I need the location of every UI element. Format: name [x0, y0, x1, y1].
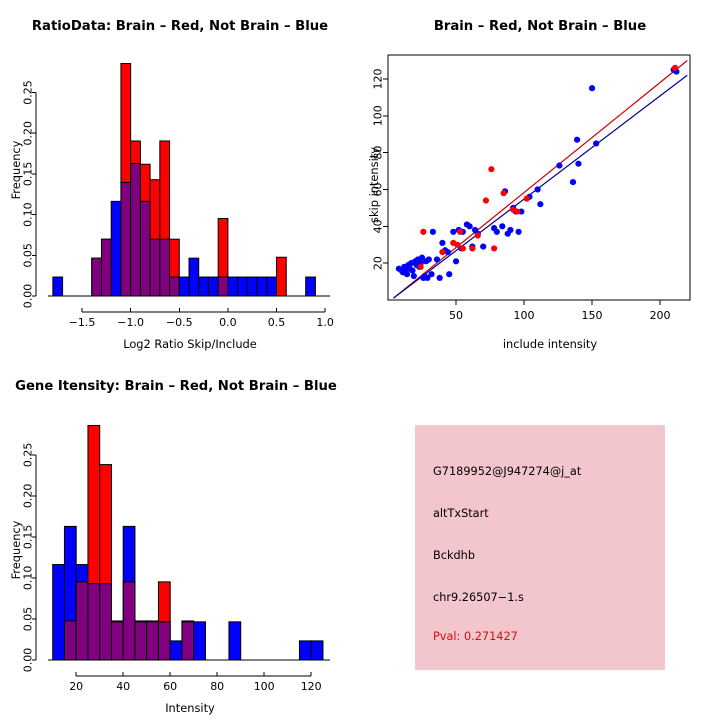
x-tick-label: −0.5	[166, 316, 193, 329]
scatter-point	[501, 190, 507, 196]
scatter-point	[524, 196, 530, 202]
x-tick-label: 0.0	[219, 316, 237, 329]
histogram-bar	[306, 277, 316, 296]
histogram-bar	[199, 277, 209, 296]
ratio-histogram-plot-area: 0.000.050.100.150.200.25−1.5−1.0−0.50.00…	[22, 63, 334, 329]
x-tick-label: 1.0	[316, 316, 334, 329]
histogram-bar-overlap	[182, 622, 194, 660]
histogram-bar	[111, 201, 121, 296]
scatter-point	[469, 245, 475, 251]
histogram-bar-overlap	[140, 201, 150, 296]
histogram-bar-overlap	[111, 622, 123, 660]
y-tick-label: 120	[372, 68, 385, 89]
scatter-point	[507, 227, 513, 233]
x-tick-label: 0.5	[268, 316, 286, 329]
scatter-point	[556, 162, 562, 168]
histogram-bar	[277, 257, 287, 296]
intensity-scatter-title: Brain – Red, Not Brain – Blue	[434, 19, 646, 34]
scatter-point	[446, 271, 452, 277]
x-tick-label: 100	[254, 680, 275, 693]
histogram-bar-overlap	[131, 164, 141, 296]
scatter-point	[445, 249, 451, 255]
scatter-point	[450, 229, 456, 235]
scatter-point	[457, 229, 463, 235]
scatter-point	[570, 179, 576, 185]
scatter-point	[460, 245, 466, 251]
scatter-point	[411, 273, 417, 279]
pvalue-text: Pval: 0.271427	[433, 630, 518, 643]
histogram-bar	[229, 622, 241, 660]
histogram-bar-overlap	[76, 582, 88, 660]
y-tick-label: 60	[372, 182, 385, 196]
scatter-point	[480, 243, 486, 249]
y-tick-label: 0.00	[22, 284, 35, 309]
scatter-point	[439, 240, 445, 246]
scatter-point	[418, 264, 424, 270]
x-tick-label: 200	[650, 309, 671, 322]
histogram-bar	[189, 258, 199, 296]
scatter-point	[409, 267, 415, 273]
x-tick-label: 60	[163, 680, 177, 693]
histogram-bar	[53, 565, 65, 660]
y-tick-label: 80	[372, 146, 385, 160]
event-type-text: altTxStart	[433, 507, 489, 520]
x-tick-label: 120	[301, 680, 322, 693]
scatter-point	[428, 271, 434, 277]
gene-intensity-plot-area: 0.000.050.100.150.200.2520406080100120	[22, 426, 331, 693]
scatter-point	[439, 249, 445, 255]
plot-page: RatioData: Brain – Red, Not Brain – Blue…	[0, 0, 720, 720]
scatter-point	[515, 229, 521, 235]
y-tick-label: 0.15	[22, 525, 35, 550]
y-tick-label: 0.15	[22, 162, 35, 187]
x-tick-label: 50	[449, 309, 463, 322]
histogram-bar	[53, 277, 63, 296]
panel-intensity-scatter: Brain – Red, Not Brain – Blue skip inten…	[360, 0, 720, 360]
histogram-bar-overlap	[88, 584, 100, 660]
gene-intensity-xlabel: Intensity	[165, 701, 215, 715]
y-tick-label: 20	[372, 256, 385, 270]
histogram-bar-overlap	[100, 584, 112, 660]
histogram-bar-overlap	[121, 182, 131, 296]
y-tick-label: 0.25	[22, 443, 35, 468]
gene-intensity-title: Gene Itensity: Brain – Red, Not Brain – …	[15, 379, 337, 394]
gene-intensity-histogram-svg: Gene Itensity: Brain – Red, Not Brain – …	[0, 360, 360, 720]
scatter-point	[467, 223, 473, 229]
histogram-bar	[299, 641, 311, 660]
y-tick-label: 100	[372, 105, 385, 126]
x-tick-label: 20	[69, 680, 83, 693]
histogram-bar	[194, 622, 206, 660]
x-tick-label: −1.5	[69, 316, 96, 329]
scatter-point	[434, 256, 440, 262]
scatter-point	[404, 271, 410, 277]
scatter-point	[475, 232, 481, 238]
scatter-point	[494, 229, 500, 235]
scatter-point	[574, 137, 580, 143]
histogram-bar-overlap	[150, 239, 160, 296]
scatter-point	[537, 201, 543, 207]
scatter-point	[672, 65, 678, 71]
regression-line-notbrain-fit	[393, 75, 687, 298]
y-tick-label: 0.10	[22, 566, 35, 591]
scatter-point	[575, 161, 581, 167]
histogram-bar	[311, 641, 323, 660]
panel-info: G7189952@J947274@j_at altTxStart Bckdhb …	[360, 360, 720, 720]
scatter-point	[535, 186, 541, 192]
scatter-point	[593, 140, 599, 146]
ratio-histogram-svg: RatioData: Brain – Red, Not Brain – Blue…	[0, 0, 360, 360]
histogram-bar-overlap	[92, 258, 102, 296]
histogram-bar	[170, 641, 182, 660]
scatter-point	[437, 275, 443, 281]
y-tick-label: 0.20	[22, 121, 35, 146]
panel-ratio-histogram: RatioData: Brain – Red, Not Brain – Blue…	[0, 0, 360, 360]
y-tick-label: 0.25	[22, 80, 35, 105]
scatter-point	[426, 256, 432, 262]
histogram-bar-overlap	[158, 622, 170, 660]
histogram-bar	[247, 277, 257, 296]
x-tick-label: −1.0	[117, 316, 144, 329]
histogram-bar	[238, 277, 248, 296]
y-tick-label: 0.00	[22, 648, 35, 673]
intensity-scatter-svg: Brain – Red, Not Brain – Blue skip inten…	[360, 0, 720, 360]
y-tick-label: 0.05	[22, 607, 35, 632]
histogram-bar	[228, 277, 238, 296]
ratio-histogram-title: RatioData: Brain – Red, Not Brain – Blue	[32, 19, 328, 34]
histogram-bar-overlap	[64, 621, 76, 660]
y-tick-label: 0.10	[22, 202, 35, 227]
histogram-bar	[208, 277, 218, 296]
y-tick-label: 0.20	[22, 484, 35, 509]
x-tick-label: 150	[582, 309, 603, 322]
histogram-bar	[257, 277, 267, 296]
x-tick-label: 40	[116, 680, 130, 693]
x-tick-label: 100	[514, 309, 535, 322]
x-tick-label: 80	[210, 680, 224, 693]
ratio-histogram-xlabel: Log2 Ratio Skip/Include	[123, 337, 257, 351]
gene-symbol-text: Bckdhb	[433, 549, 475, 562]
scatter-point	[454, 242, 460, 248]
panel-gene-intensity-histogram: Gene Itensity: Brain – Red, Not Brain – …	[0, 360, 360, 720]
locus-text: chr9.26507−1.s	[433, 591, 524, 604]
scatter-point	[491, 245, 497, 251]
scatter-points-group	[396, 65, 680, 281]
y-tick-label: 0.05	[22, 243, 35, 268]
intensity-scatter-plot-area: 2040608010012050100150200	[372, 55, 691, 322]
histogram-bar	[179, 277, 189, 296]
histogram-bar-overlap	[147, 622, 159, 660]
histogram-bar-overlap	[218, 277, 228, 296]
scatter-point	[420, 229, 426, 235]
histogram-bar	[267, 277, 277, 296]
scatter-point	[589, 85, 595, 91]
scatter-point	[488, 166, 494, 172]
y-tick-label: 40	[372, 219, 385, 233]
histogram-bar-overlap	[170, 277, 180, 296]
scatter-point	[514, 208, 520, 214]
intensity-scatter-xlabel: include intensity	[503, 337, 598, 351]
histogram-bar-overlap	[160, 239, 170, 296]
scatter-point	[483, 197, 489, 203]
plot-box	[388, 55, 690, 300]
info-panel: G7189952@J947274@j_at altTxStart Bckdhb …	[415, 425, 665, 670]
scatter-point	[499, 223, 505, 229]
probe-id-text: G7189952@J947274@j_at	[433, 465, 581, 478]
histogram-bar-overlap	[123, 582, 135, 660]
histogram-bar-overlap	[101, 239, 111, 296]
scatter-point	[453, 258, 459, 264]
scatter-point	[430, 229, 436, 235]
histogram-bar-overlap	[135, 622, 147, 660]
